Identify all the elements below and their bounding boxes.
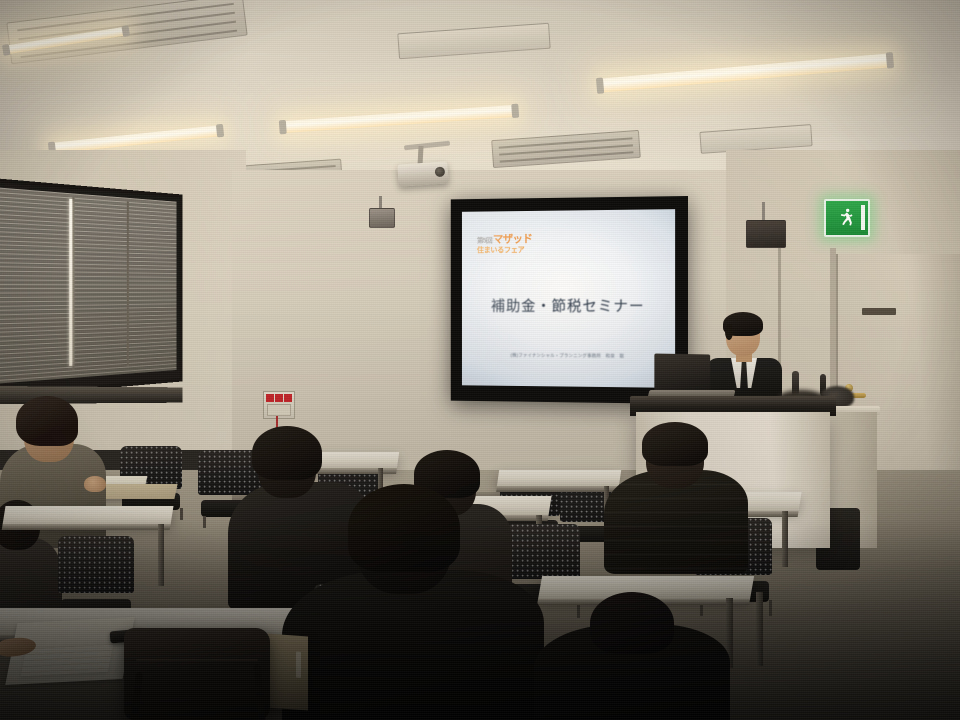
- attendee-hair: [252, 426, 322, 480]
- blind-pull-cord[interactable]: [69, 199, 72, 366]
- exit-door-bar: [861, 205, 865, 230]
- table-leg-mid-left: [158, 524, 164, 586]
- wall-speaker-right: [746, 220, 786, 248]
- table-leg-front-center-2: [756, 592, 763, 666]
- attendee-head: [590, 592, 674, 654]
- wall-speaker-left: [369, 208, 395, 228]
- table-leg-mid-right: [782, 511, 788, 567]
- window-blinds[interactable]: [0, 187, 176, 383]
- attendee-hair: [348, 484, 460, 572]
- slide-title: 補助金・節税セミナー: [462, 295, 675, 316]
- presenter-hair: [723, 312, 763, 336]
- seminar-room-photo: 第5回マザッド 住まいるフェア 補助金・節税セミナー (株)ファイナンシャル・プ…: [0, 0, 960, 720]
- leather-bag: [124, 628, 270, 720]
- fire-alarm-call-point[interactable]: [263, 391, 295, 419]
- attendee-center-front: [282, 484, 550, 720]
- slide-logo: 第5回マザッド 住まいるフェア: [477, 234, 551, 254]
- emergency-exit-sign: [824, 199, 870, 237]
- attendee-hand: [84, 476, 106, 492]
- laptop-screen: [654, 353, 710, 394]
- table-mid-left: [2, 506, 173, 525]
- attendee-far-right-front: [534, 592, 734, 720]
- bag-strap-right: [253, 664, 267, 720]
- running-man-icon: [837, 205, 856, 230]
- slide-surface: 第5回マザッド 住まいるフェア 補助金・節税セミナー (株)ファイナンシャル・プ…: [462, 209, 675, 388]
- attendee-hair: [16, 396, 78, 446]
- slide-subtitle: (株)ファイナンシャル・プランニング事務所 和泉 聡: [462, 352, 675, 360]
- projector-lens: [435, 166, 446, 177]
- window-left: [0, 182, 180, 394]
- door-nameplate: [862, 308, 896, 315]
- slide-logo-line1: マザッド: [493, 233, 532, 245]
- speaker-right-rod: [762, 202, 765, 220]
- slide-logo-prefix: 第5回: [477, 238, 492, 245]
- attendee-hair: [642, 422, 708, 466]
- attendee-right: [604, 422, 752, 572]
- projection-screen: 第5回マザッド 住まいるフェア 補助金・節税セミナー (株)ファイナンシャル・プ…: [451, 196, 688, 404]
- bag-strap-left: [128, 672, 143, 720]
- slide-logo-line2: 住まいるフェア: [477, 246, 551, 254]
- ceiling-projector: [397, 161, 448, 186]
